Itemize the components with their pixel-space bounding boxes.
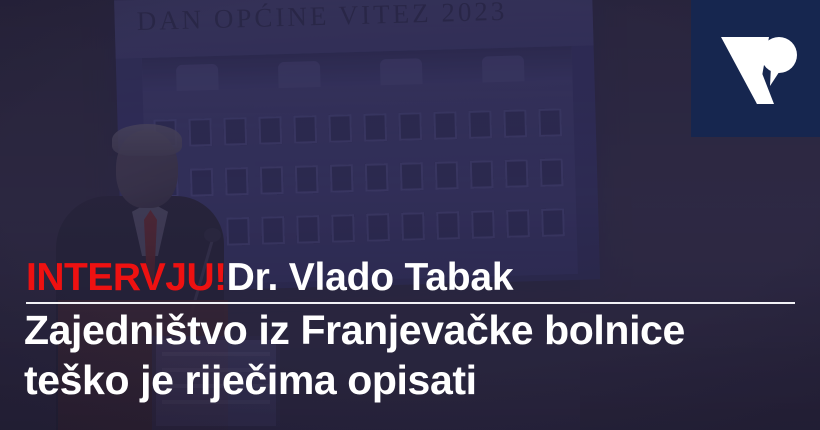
- video-thumbnail: DAN OPĆINE VITEZ 2023: [0, 0, 820, 430]
- lower-third-caption: INTERVJU!Dr. Vlado Tabak Zajedništvo iz …: [0, 248, 820, 406]
- interviewee-name: Dr. Vlado Tabak: [227, 256, 514, 299]
- brand-logo[interactable]: [691, 0, 820, 137]
- caption-first-line: INTERVJU!Dr. Vlado Tabak: [26, 258, 513, 297]
- headline-line-2: teško je riječima opisati: [24, 360, 477, 401]
- v-speech-bubble-logo-icon: [691, 0, 820, 137]
- caption-divider-rule: [26, 302, 795, 304]
- kicker-label: INTERVJU!: [26, 256, 227, 299]
- headline-line-1: Zajedništvo iz Franjevačke bolnice: [24, 310, 685, 351]
